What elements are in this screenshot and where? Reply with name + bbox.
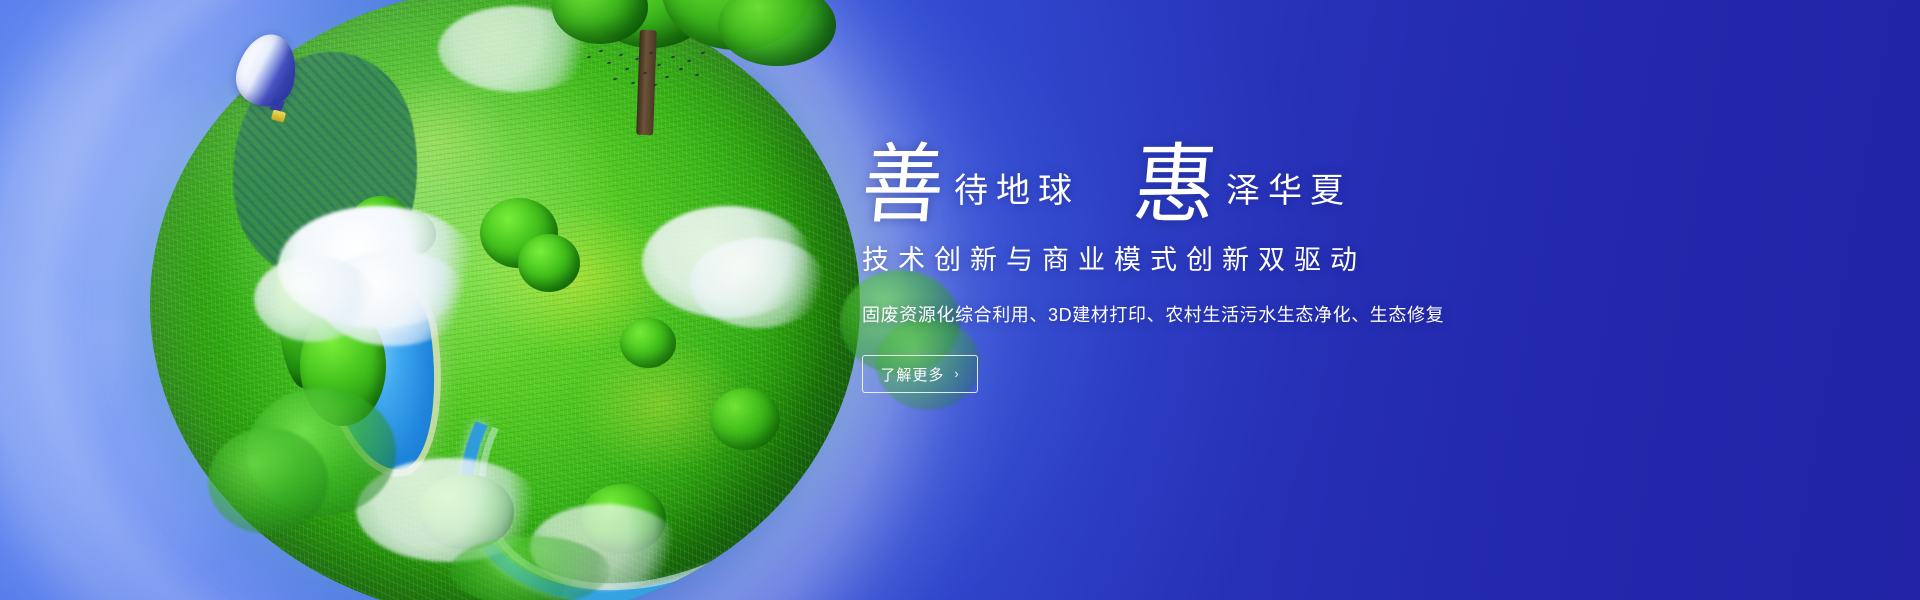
balloon-envelope	[230, 28, 304, 112]
balloon-basket	[271, 110, 286, 123]
learn-more-button[interactable]: 了解更多 ›	[862, 355, 978, 393]
headline-rest-2: 泽华夏	[1222, 174, 1352, 208]
edge-tree	[208, 428, 328, 534]
tree-canopy	[718, 0, 836, 66]
chevron-right-icon: ›	[954, 366, 959, 381]
headline-char-2: 惠	[1130, 145, 1225, 227]
hero-banner: 善 待地球 惠 泽华夏 技术创新与商业模式创新双驱动 固废资源化综合利用、3D建…	[0, 0, 1920, 600]
headline: 善 待地球 惠 泽华夏	[862, 128, 1602, 224]
bird-flock-icon	[585, 48, 710, 90]
learn-more-label: 了解更多	[880, 364, 944, 385]
subtitle: 技术创新与商业模式创新双驱动	[862, 238, 1602, 277]
cloud-puff	[690, 238, 826, 328]
cloud-puff	[254, 256, 374, 342]
edge-tree	[450, 536, 610, 600]
hot-air-balloon-icon	[232, 34, 304, 130]
hero-copy: 善 待地球 惠 泽华夏 技术创新与商业模式创新双驱动 固废资源化综合利用、3D建…	[862, 128, 1602, 393]
bush-clump	[518, 234, 580, 292]
headline-rest-1: 待地球	[950, 174, 1080, 208]
headline-char-1: 善	[858, 145, 953, 227]
description: 固废资源化综合利用、3D建材打印、农村生活污水生态净化、生态修复	[862, 301, 1602, 327]
bush-clump	[620, 318, 676, 368]
bush-clump	[710, 388, 780, 450]
